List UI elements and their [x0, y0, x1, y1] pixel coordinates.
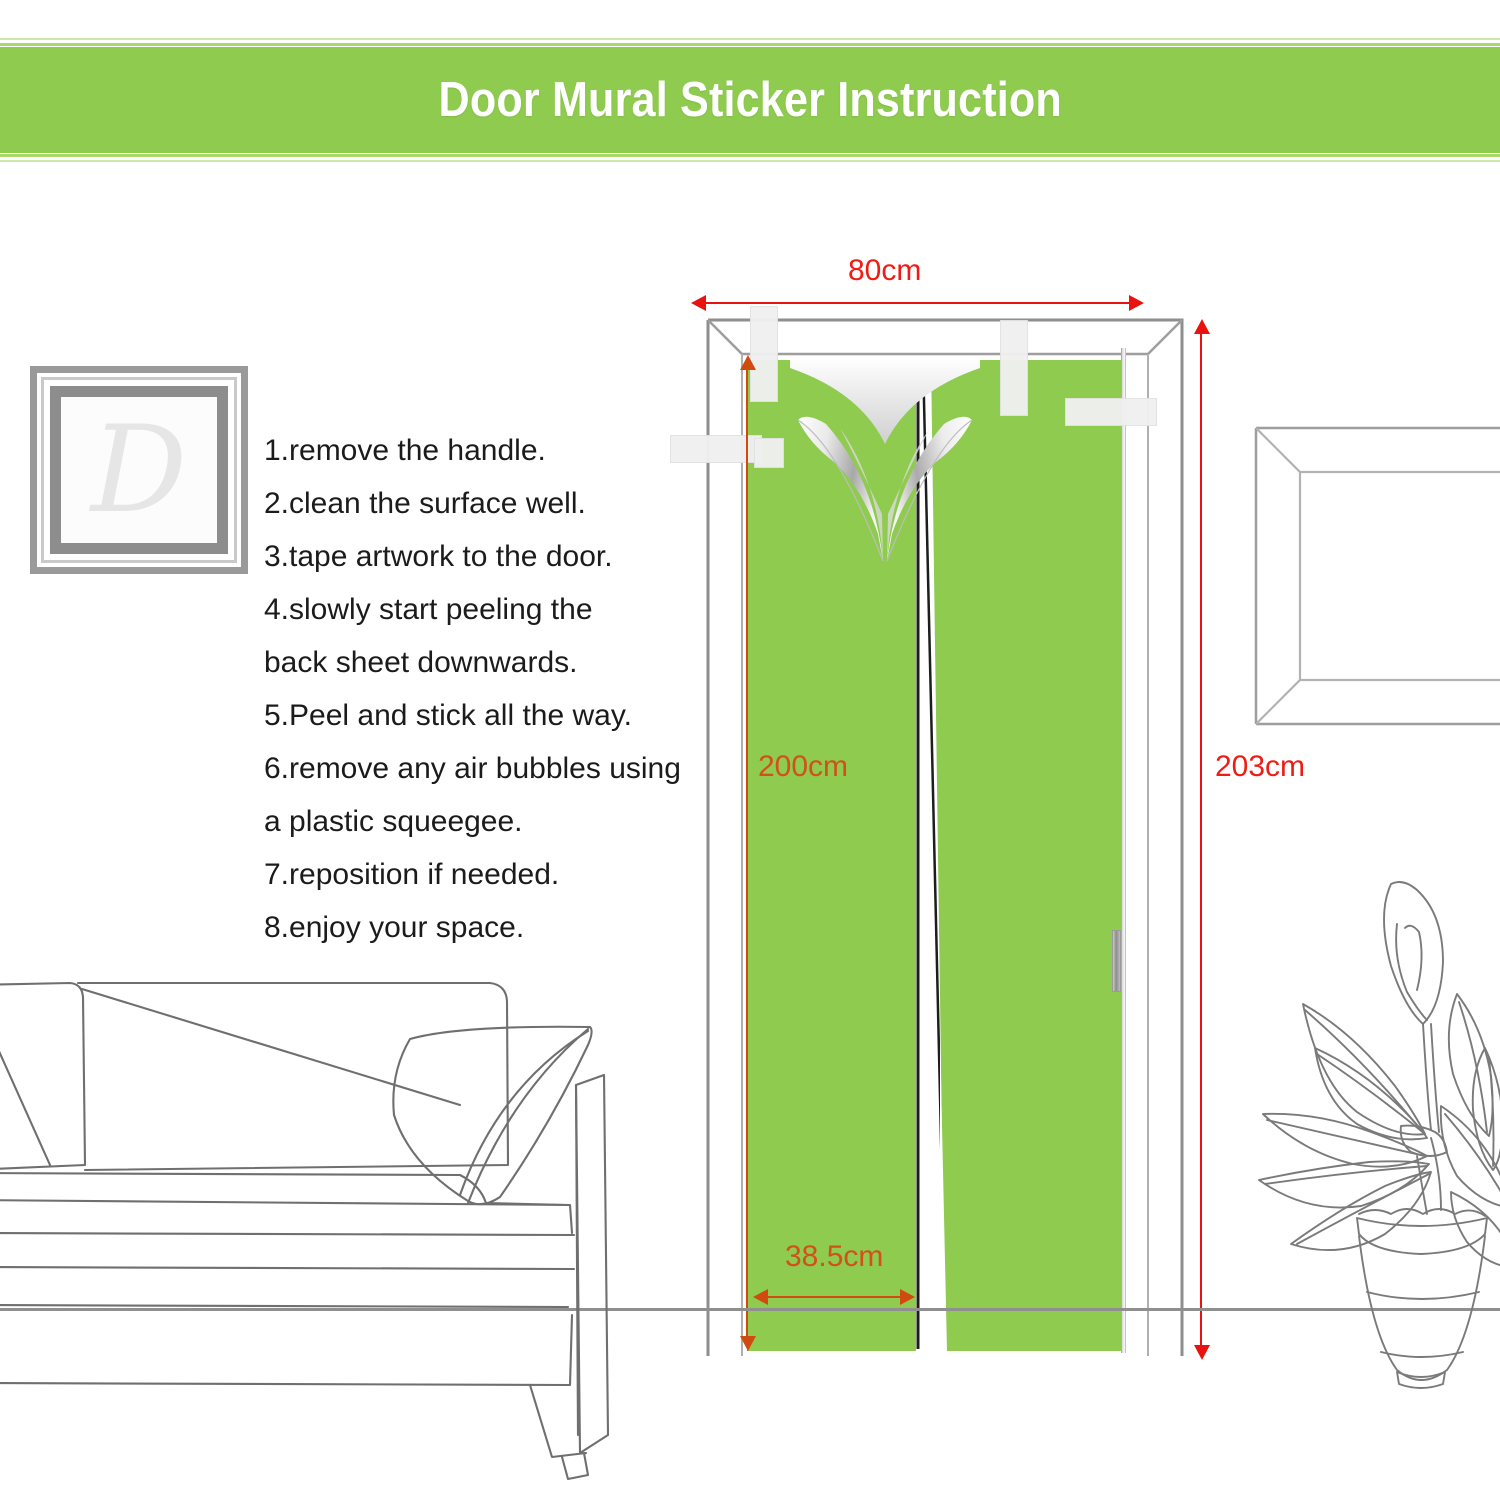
banner-hairline-bottom: [0, 160, 1500, 162]
list-item: a plastic squeegee.: [264, 795, 684, 848]
door-leaf-edge: [1121, 348, 1126, 1353]
list-item: 3.tape artwork to the door.: [264, 530, 684, 583]
list-item: back sheet downwards.: [264, 636, 684, 689]
list-item: 8.enjoy your space.: [264, 901, 684, 954]
list-item: 2.clean the surface well.: [264, 477, 684, 530]
dimension-line-width: [706, 302, 1130, 304]
page-title: Door Mural Sticker Instruction: [438, 72, 1061, 128]
instruction-poster: Door Mural Sticker Instruction D 1.remov…: [0, 0, 1500, 1500]
door-diagram: 80cm: [640, 240, 1260, 1360]
tape-strip-top-right: [1000, 320, 1028, 416]
wall-frame-right: [1248, 418, 1500, 738]
list-item: 7.reposition if needed.: [264, 848, 684, 901]
arrow-up-icon: [1194, 319, 1210, 334]
list-item: 5.Peel and stick all the way.: [264, 689, 684, 742]
arrow-right-icon: [900, 1289, 915, 1305]
list-item: 1.remove the handle.: [264, 424, 684, 477]
instruction-list: 1.remove the handle. 2.clean the surface…: [264, 424, 684, 954]
arrow-down-icon: [1194, 1345, 1210, 1360]
dimension-line-sticker-height: [746, 368, 748, 1341]
tape-square-left: [754, 438, 784, 468]
arrow-left-icon: [691, 295, 706, 311]
door-hinge: [1112, 930, 1121, 992]
dimension-label-width: 80cm: [848, 254, 921, 288]
tape-strip-top-left: [750, 306, 778, 402]
plant-illustration: [1245, 862, 1500, 1464]
arrow-down-icon: [740, 1336, 756, 1351]
dimension-label-panel-width: 38.5cm: [785, 1240, 883, 1274]
arrow-left-icon: [753, 1289, 768, 1305]
sofa-illustration: [0, 965, 640, 1505]
dimension-line-panel-width: [767, 1296, 901, 1298]
arrow-right-icon: [1129, 295, 1144, 311]
banner-rule-bottom: [0, 154, 1500, 157]
banner-hairline-top: [0, 38, 1500, 40]
dimension-label-door-height: 203cm: [1215, 750, 1305, 784]
wall-frame-left: D: [30, 366, 248, 574]
frame-monogram: D: [37, 373, 241, 567]
peel-curl-illustration: [790, 358, 980, 573]
dimension-line-door-height: [1200, 332, 1202, 1350]
dimension-label-sticker-height: 200cm: [758, 750, 848, 784]
header-banner: Door Mural Sticker Instruction: [0, 47, 1500, 153]
list-item: 4.slowly start peeling the: [264, 583, 684, 636]
arrow-up-icon: [740, 355, 756, 370]
list-item: 6.remove any air bubbles using: [264, 742, 684, 795]
tape-strip-left-edge: [670, 435, 762, 463]
banner-rule-top: [0, 43, 1500, 46]
tape-strip-right-edge: [1065, 398, 1157, 426]
